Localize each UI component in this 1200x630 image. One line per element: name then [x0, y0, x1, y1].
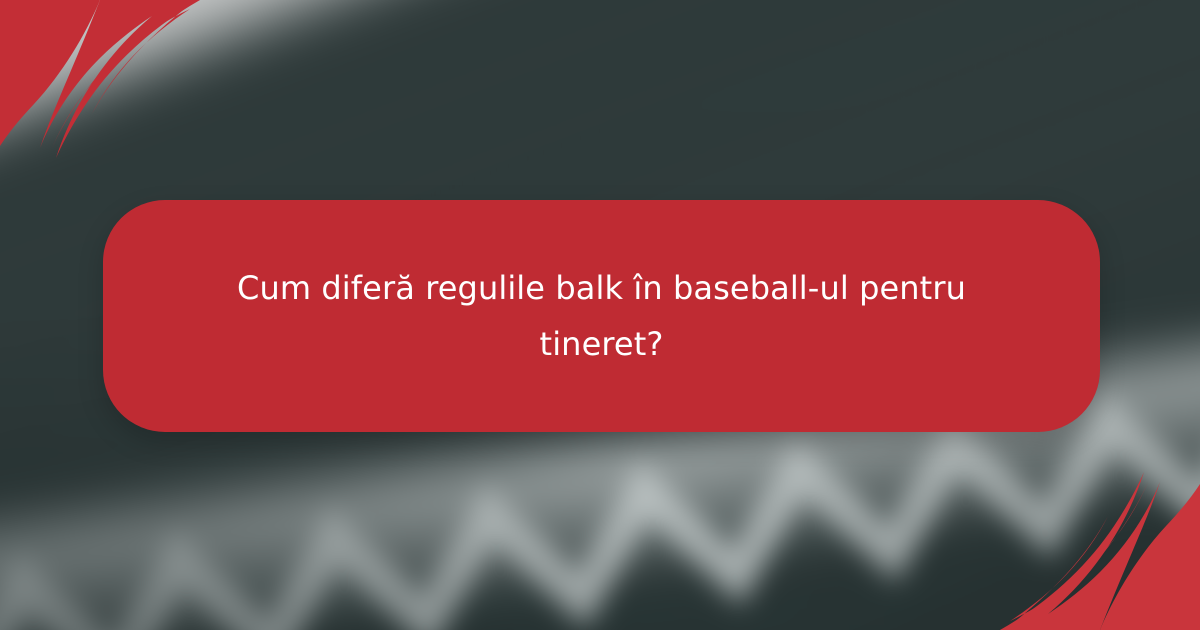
question-card: Cum diferă regulile balk în baseball-ul … [103, 200, 1100, 432]
share-card-canvas: Cum diferă regulile balk în baseball-ul … [0, 0, 1200, 630]
question-text: Cum diferă regulile balk în baseball-ul … [103, 260, 1100, 372]
